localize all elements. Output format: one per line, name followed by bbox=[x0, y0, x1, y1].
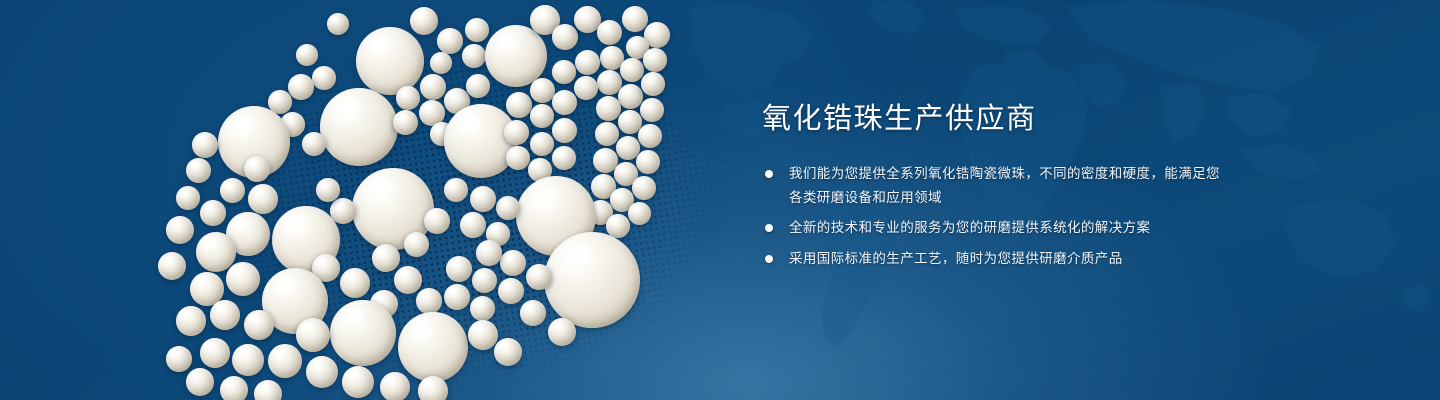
list-item: 我们能为您提供全系列氧化锆陶瓷微珠，不同的密度和硬度，能满足您各类研磨设备和应用… bbox=[762, 162, 1222, 209]
world-map-backdrop bbox=[0, 0, 1440, 400]
list-item: 采用国际标准的生产工艺，随时为您提供研磨介质产品 bbox=[762, 247, 1222, 271]
banner-copy: 氧化锆珠生产供应商 我们能为您提供全系列氧化锆陶瓷微珠，不同的密度和硬度，能满足… bbox=[762, 104, 1222, 270]
feature-list: 我们能为您提供全系列氧化锆陶瓷微珠，不同的密度和硬度，能满足您各类研磨设备和应用… bbox=[762, 162, 1222, 271]
list-item: 全新的技术和专业的服务为您的研磨提供系统化的解决方案 bbox=[762, 216, 1222, 240]
bullet-dot-icon bbox=[765, 255, 773, 263]
list-item-label: 采用国际标准的生产工艺，随时为您提供研磨介质产品 bbox=[789, 251, 1123, 266]
list-item-label: 我们能为您提供全系列氧化锆陶瓷微珠，不同的密度和硬度，能满足您各类研磨设备和应用… bbox=[789, 166, 1220, 205]
bullet-dot-icon bbox=[765, 170, 773, 178]
hero-banner: 氧化锆珠生产供应商 我们能为您提供全系列氧化锆陶瓷微珠，不同的密度和硬度，能满足… bbox=[0, 0, 1440, 400]
page-title: 氧化锆珠生产供应商 bbox=[762, 104, 1222, 136]
halftone-texture bbox=[58, 0, 843, 400]
list-item-label: 全新的技术和专业的服务为您的研磨提供系统化的解决方案 bbox=[789, 220, 1150, 235]
bullet-dot-icon bbox=[765, 224, 773, 232]
zirconia-bead-cluster bbox=[0, 0, 760, 400]
